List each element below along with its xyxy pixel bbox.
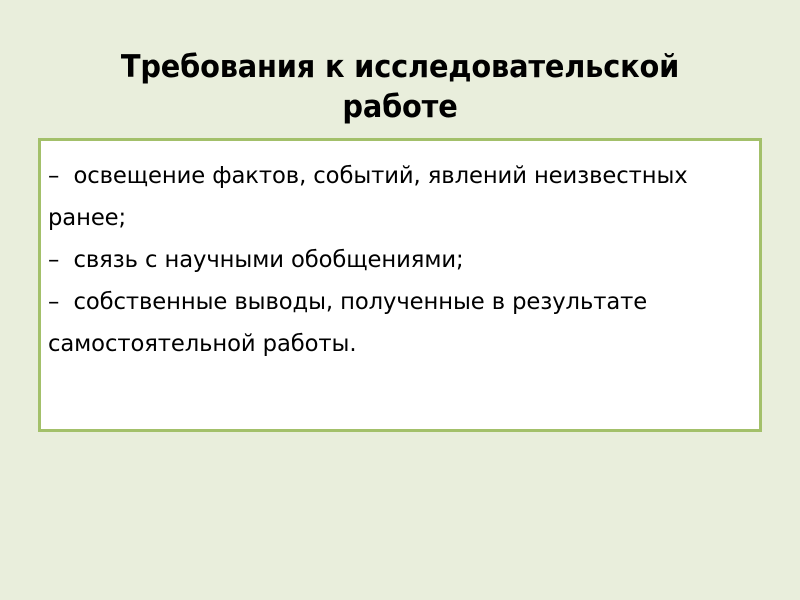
list-item-text: собственные выводы, полученные в результ…: [48, 287, 647, 357]
list-item: – освещение фактов, событий, явлений неи…: [48, 154, 717, 238]
requirements-list: – освещение фактов, событий, явлений неи…: [41, 141, 759, 364]
content-box: – освещение фактов, событий, явлений неи…: [38, 138, 762, 432]
bullet-marker-gap: [59, 161, 73, 189]
list-item-text: связь с научными обобщениями;: [73, 245, 463, 273]
bullet-marker-icon: –: [48, 245, 59, 273]
bullet-marker-gap: [59, 245, 73, 273]
page-title-line-2: работе: [84, 87, 716, 127]
list-item: – связь с научными обобщениями;: [48, 238, 717, 280]
list-item: – собственные выводы, полученные в резул…: [48, 280, 717, 364]
page-title: Требования к исследовательской работе: [84, 47, 716, 127]
page-title-line-1: Требования к исследовательской: [84, 47, 716, 87]
slide: Требования к исследовательской работе – …: [0, 0, 800, 600]
bullet-marker-icon: –: [48, 161, 59, 189]
bullet-marker-icon: –: [48, 287, 59, 315]
bullet-marker-gap: [59, 287, 73, 315]
list-item-text: освещение фактов, событий, явлений неизв…: [48, 161, 688, 231]
